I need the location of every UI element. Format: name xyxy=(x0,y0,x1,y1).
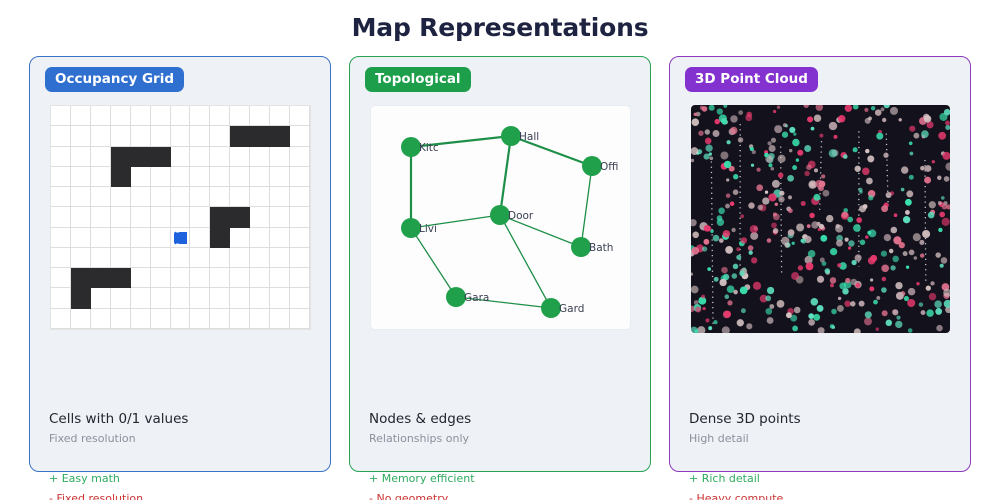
grid-cell xyxy=(230,248,250,268)
occupancy-grid-canvas[interactable] xyxy=(50,105,311,330)
cloud-point xyxy=(913,133,919,139)
caption-pro: + Rich detail xyxy=(689,471,969,486)
point-cloud-canvas[interactable] xyxy=(691,105,950,333)
grid-cell xyxy=(290,268,310,288)
grid-cell xyxy=(250,248,270,268)
caption-subtitle: Fixed resolution xyxy=(49,432,329,446)
grid-cell xyxy=(111,207,131,227)
grid-cell xyxy=(131,228,151,248)
cloud-point xyxy=(807,224,811,228)
cloud-point xyxy=(938,228,942,232)
cloud-point xyxy=(863,204,868,209)
cloud-point xyxy=(707,267,711,271)
cloud-point xyxy=(895,321,902,328)
cloud-point xyxy=(819,134,823,138)
cloud-point xyxy=(741,308,746,313)
grid-cell xyxy=(210,187,230,207)
caption-title: Nodes & edges xyxy=(369,411,649,428)
graph-node[interactable] xyxy=(490,205,510,225)
cloud-point xyxy=(717,108,723,114)
grid-cell xyxy=(171,288,191,308)
grid-cell xyxy=(190,228,210,248)
cloud-point xyxy=(731,228,735,232)
cloud-point xyxy=(862,168,870,176)
cloud-point xyxy=(819,224,824,229)
cloud-point xyxy=(792,242,795,245)
cloud-point xyxy=(940,264,944,268)
lidar-ray xyxy=(886,133,888,202)
grid-cell xyxy=(111,126,131,146)
cloud-point xyxy=(767,317,774,324)
grid-cell xyxy=(230,167,250,187)
graph-node-label: Gard xyxy=(559,303,584,315)
grid-cell xyxy=(171,167,191,187)
cloud-point xyxy=(876,327,880,331)
grid-cell xyxy=(131,288,151,308)
cloud-point xyxy=(765,295,771,301)
cloud-point xyxy=(945,125,950,130)
cloud-point xyxy=(850,301,855,306)
cloud-point xyxy=(758,205,764,211)
cloud-point xyxy=(881,107,885,111)
cloud-point xyxy=(724,311,731,318)
grid-cell xyxy=(171,126,191,146)
cloud-point xyxy=(901,188,905,192)
cloud-point xyxy=(928,212,935,219)
caption-subtitle: High detail xyxy=(689,432,969,446)
cloud-point xyxy=(695,307,701,313)
grid-cell xyxy=(131,167,151,187)
cloud-point xyxy=(837,263,841,267)
cloud-point xyxy=(713,130,720,137)
grid-cell xyxy=(190,106,210,126)
caption-subtitle: Relationships only xyxy=(369,432,649,446)
badge-topological: Topological xyxy=(365,67,471,92)
grid-cell xyxy=(270,167,290,187)
grid-cell xyxy=(171,268,191,288)
point-cloud-svg xyxy=(691,105,950,333)
topological-graph-canvas[interactable]: KitcHallOffiLiviDoorBathGaraGard xyxy=(370,105,631,330)
cloud-point xyxy=(751,257,757,263)
cloud-point xyxy=(845,105,852,112)
grid-cell xyxy=(270,288,290,308)
cloud-point xyxy=(856,217,862,223)
cloud-point xyxy=(725,294,730,299)
grid-cell xyxy=(111,288,131,308)
cloud-point xyxy=(740,287,748,295)
cloud-point xyxy=(815,180,823,188)
cloud-point xyxy=(865,149,869,153)
cloud-point xyxy=(890,265,895,270)
caption-con: - Fixed resolution xyxy=(49,491,329,500)
cloud-point xyxy=(901,166,908,173)
cloud-point xyxy=(765,308,772,315)
grid-cell xyxy=(171,147,191,167)
cloud-point xyxy=(892,256,899,263)
cloud-point xyxy=(753,282,761,290)
cloud-point xyxy=(726,178,729,181)
graph-node-label: Livi xyxy=(419,223,437,235)
cloud-point xyxy=(836,240,843,247)
grid-cell xyxy=(230,106,250,126)
cloud-point xyxy=(926,285,931,290)
cloud-point xyxy=(736,247,740,251)
cloud-point xyxy=(702,246,707,251)
grid-cell xyxy=(151,126,171,146)
cloud-point xyxy=(903,251,908,256)
caption-pro: + Easy math xyxy=(49,471,329,486)
caption-title: Cells with 0/1 values xyxy=(49,411,329,428)
grid-cell xyxy=(230,309,250,329)
grid-cell xyxy=(151,309,171,329)
cloud-point xyxy=(825,268,831,274)
graph-node-label: Hall xyxy=(519,131,539,143)
cloud-point xyxy=(771,167,775,171)
cloud-point xyxy=(722,119,728,125)
graph-node[interactable] xyxy=(401,137,421,157)
grid-cell xyxy=(51,126,71,146)
cloud-point xyxy=(829,122,837,130)
graph-node-label: Offi xyxy=(600,161,618,173)
grid-cell xyxy=(290,167,310,187)
grid-cell xyxy=(151,187,171,207)
graph-node-label: Bath xyxy=(589,242,613,254)
cloud-point xyxy=(706,226,712,232)
caption-con: - Heavy compute xyxy=(689,491,969,500)
grid-cell xyxy=(151,147,171,167)
cloud-point xyxy=(768,163,772,167)
grid-cell xyxy=(190,248,210,268)
grid-cell xyxy=(171,309,191,329)
cloud-point xyxy=(839,282,846,289)
cloud-point xyxy=(835,225,843,233)
cloud-point xyxy=(796,224,804,232)
grid-cell xyxy=(51,309,71,329)
cloud-point xyxy=(926,309,934,317)
grid-cell xyxy=(250,309,270,329)
cloud-point xyxy=(809,213,814,218)
grid-cell xyxy=(51,288,71,308)
cloud-point xyxy=(838,297,841,300)
grid-cell xyxy=(131,268,151,288)
cloud-point xyxy=(808,319,815,326)
grid-cell xyxy=(131,248,151,268)
cloud-point xyxy=(777,300,785,308)
grid-cell xyxy=(91,288,111,308)
grid-cell xyxy=(111,248,131,268)
cloud-point xyxy=(720,152,728,160)
cloud-point xyxy=(831,309,837,315)
grid-cell xyxy=(230,268,250,288)
cloud-point xyxy=(733,189,739,195)
cloud-point xyxy=(921,130,929,138)
cloud-point xyxy=(738,137,743,142)
caption-point-cloud: Dense 3D points High detail + Rich detai… xyxy=(689,411,969,500)
graph-node[interactable] xyxy=(501,126,521,146)
cloud-point xyxy=(830,248,837,255)
cloud-point xyxy=(894,213,898,217)
cloud-point xyxy=(705,129,710,134)
cloud-point xyxy=(788,229,795,236)
cloud-point xyxy=(733,264,739,270)
cloud-point xyxy=(891,227,898,234)
cloud-point xyxy=(723,230,730,237)
cloud-point xyxy=(739,271,744,276)
grid-cell xyxy=(270,268,290,288)
grid-cell xyxy=(210,309,230,329)
cloud-point xyxy=(713,235,720,242)
grid-cell xyxy=(290,126,310,146)
cloud-point xyxy=(705,145,712,152)
cloud-point xyxy=(787,175,794,182)
cloud-point xyxy=(773,110,776,113)
cloud-point xyxy=(895,282,902,289)
cloud-point xyxy=(935,308,942,315)
grid-cell xyxy=(250,167,270,187)
cloud-point xyxy=(870,278,873,281)
graph-edge xyxy=(500,136,511,215)
grid-cell xyxy=(190,126,210,146)
graph-node[interactable] xyxy=(401,218,421,238)
grid-cell xyxy=(51,167,71,187)
cloud-point xyxy=(881,251,887,257)
grid-cell xyxy=(71,207,91,227)
graph-edge xyxy=(500,215,551,308)
cloud-point xyxy=(814,168,818,172)
grid-cell xyxy=(91,207,111,227)
caption-con: - No geometry xyxy=(369,491,649,500)
cloud-point xyxy=(730,201,735,206)
grid-cell xyxy=(131,187,151,207)
cloud-point xyxy=(818,327,825,333)
grid-cell xyxy=(270,309,290,329)
cloud-point xyxy=(722,326,730,333)
grid-cell xyxy=(51,147,71,167)
grid-cell xyxy=(111,309,131,329)
cloud-point xyxy=(881,205,888,212)
cloud-point xyxy=(694,300,699,305)
grid-cell xyxy=(151,167,171,187)
cloud-point xyxy=(869,286,874,291)
cloud-point xyxy=(876,133,883,140)
cloud-point xyxy=(762,197,769,204)
grid-cell xyxy=(71,167,91,187)
cloud-point xyxy=(896,292,904,300)
grid-cell xyxy=(250,228,270,248)
grid-cell xyxy=(190,309,210,329)
grid-cell xyxy=(71,106,91,126)
grid-cell xyxy=(190,167,210,187)
cloud-point xyxy=(733,174,738,179)
cloud-point xyxy=(910,152,914,156)
cloud-point xyxy=(829,149,837,157)
grid-cell xyxy=(290,248,310,268)
cloud-point xyxy=(774,125,782,133)
cloud-point xyxy=(854,328,861,333)
cloud-point xyxy=(804,171,809,176)
cloud-point xyxy=(789,149,792,152)
grid-cell xyxy=(250,268,270,288)
caption-occupancy-grid: Cells with 0/1 values Fixed resolution +… xyxy=(49,411,329,500)
cloud-point xyxy=(929,201,936,208)
cloud-point xyxy=(730,115,737,122)
cloud-point xyxy=(779,191,784,196)
grid-cell xyxy=(250,288,270,308)
grid-cell xyxy=(71,309,91,329)
cloud-point xyxy=(736,255,741,260)
grid-cell xyxy=(51,248,71,268)
lidar-ray xyxy=(781,147,782,276)
cloud-point xyxy=(853,105,859,110)
cloud-point xyxy=(851,279,857,285)
graph-node[interactable] xyxy=(582,156,602,176)
cloud-point xyxy=(903,216,910,223)
grid-cell xyxy=(51,106,71,126)
grid-cell xyxy=(131,207,151,227)
grid-cell xyxy=(210,268,230,288)
grid-cell xyxy=(290,309,310,329)
grid-cell xyxy=(111,167,131,187)
cloud-point xyxy=(813,194,820,201)
graph-node[interactable] xyxy=(446,287,466,307)
grid-cell xyxy=(190,187,210,207)
cloud-point xyxy=(816,105,823,111)
cloud-point xyxy=(919,240,924,245)
cloud-point xyxy=(775,203,778,206)
cloud-point xyxy=(719,279,726,286)
grid-cell xyxy=(71,288,91,308)
cloud-point xyxy=(883,153,888,158)
cloud-point xyxy=(860,240,866,246)
cloud-point xyxy=(746,112,752,118)
grid-cell xyxy=(51,228,71,248)
cloud-point xyxy=(719,238,724,243)
cloud-point xyxy=(691,247,699,255)
grid-cell xyxy=(71,228,91,248)
grid-cell xyxy=(290,106,310,126)
cloud-point xyxy=(704,154,710,160)
cloud-point xyxy=(906,190,913,197)
grid-cell xyxy=(250,126,270,146)
cloud-point xyxy=(907,299,915,307)
cloud-point xyxy=(768,193,776,201)
grid-cell xyxy=(190,288,210,308)
grid-cell xyxy=(131,309,151,329)
grid-cell xyxy=(270,248,290,268)
cloud-point xyxy=(830,277,837,284)
cloud-point xyxy=(925,165,932,172)
cloud-point xyxy=(723,105,727,108)
cloud-point xyxy=(884,234,891,241)
grid-cell xyxy=(111,228,131,248)
cloud-point xyxy=(930,281,934,285)
cloud-point xyxy=(714,277,719,282)
grid-cell xyxy=(71,187,91,207)
cloud-point xyxy=(727,285,735,293)
cloud-point xyxy=(703,239,709,245)
cloud-point xyxy=(803,105,809,108)
cloud-point xyxy=(697,326,705,333)
grid-cell xyxy=(270,126,290,146)
cloud-point xyxy=(896,316,900,320)
cloud-point xyxy=(717,215,723,221)
cloud-point xyxy=(792,326,798,332)
cloud-point xyxy=(944,300,950,308)
cloud-point xyxy=(882,277,886,281)
cloud-point xyxy=(772,180,780,188)
cloud-point xyxy=(865,311,872,318)
grid-cell xyxy=(91,147,111,167)
cloud-point xyxy=(797,150,803,156)
cloud-point xyxy=(804,145,811,152)
cloud-point xyxy=(908,288,916,296)
cloud-point xyxy=(811,298,819,306)
grid-cell xyxy=(270,147,290,167)
cloud-point xyxy=(748,245,754,251)
cloud-point xyxy=(905,210,910,215)
cloud-point xyxy=(873,300,878,305)
grid-cell xyxy=(210,207,230,227)
cloud-point xyxy=(691,272,693,275)
grid-cell xyxy=(71,147,91,167)
grid-cell xyxy=(91,248,111,268)
cloud-point xyxy=(811,127,815,131)
cloud-point xyxy=(817,276,824,283)
grid-cell xyxy=(250,106,270,126)
cloud-point xyxy=(777,106,780,109)
grid-cell xyxy=(230,126,250,146)
cloud-point xyxy=(778,155,786,163)
grid-cell xyxy=(190,268,210,288)
graph-node-label: Gara xyxy=(464,292,489,304)
cloud-point xyxy=(691,286,699,294)
cloud-point xyxy=(786,312,792,318)
grid-cell xyxy=(131,126,151,146)
cloud-point xyxy=(868,116,872,120)
graph-node[interactable] xyxy=(571,237,591,257)
cloud-point xyxy=(820,235,827,242)
grid-cell xyxy=(210,106,230,126)
cloud-point xyxy=(908,328,913,333)
grid-cell xyxy=(230,147,250,167)
grid-cell xyxy=(250,207,270,227)
graph-node[interactable] xyxy=(541,298,561,318)
cloud-point xyxy=(782,132,788,138)
cloud-point xyxy=(886,320,893,327)
cloud-point xyxy=(866,178,873,185)
cloud-point xyxy=(709,156,713,160)
grid-cell xyxy=(250,187,270,207)
cloud-point xyxy=(820,258,825,263)
cloud-point xyxy=(909,175,914,180)
cloud-point xyxy=(909,126,915,132)
cloud-point xyxy=(750,225,758,233)
cloud-point xyxy=(929,293,936,300)
cloud-point xyxy=(845,238,849,242)
cloud-point xyxy=(848,240,854,246)
grid-cell xyxy=(230,187,250,207)
cloud-point xyxy=(778,196,784,202)
grid-cell xyxy=(71,268,91,288)
page-root: Map Representations Occupancy Grid Cells… xyxy=(0,0,1000,500)
grid-cell xyxy=(171,248,191,268)
grid-cell xyxy=(230,288,250,308)
cloud-point xyxy=(864,317,872,325)
cloud-point xyxy=(806,262,814,270)
cloud-point xyxy=(871,106,875,110)
caption-pro: + Memory efficient xyxy=(369,471,649,486)
grid-cell xyxy=(210,228,230,248)
